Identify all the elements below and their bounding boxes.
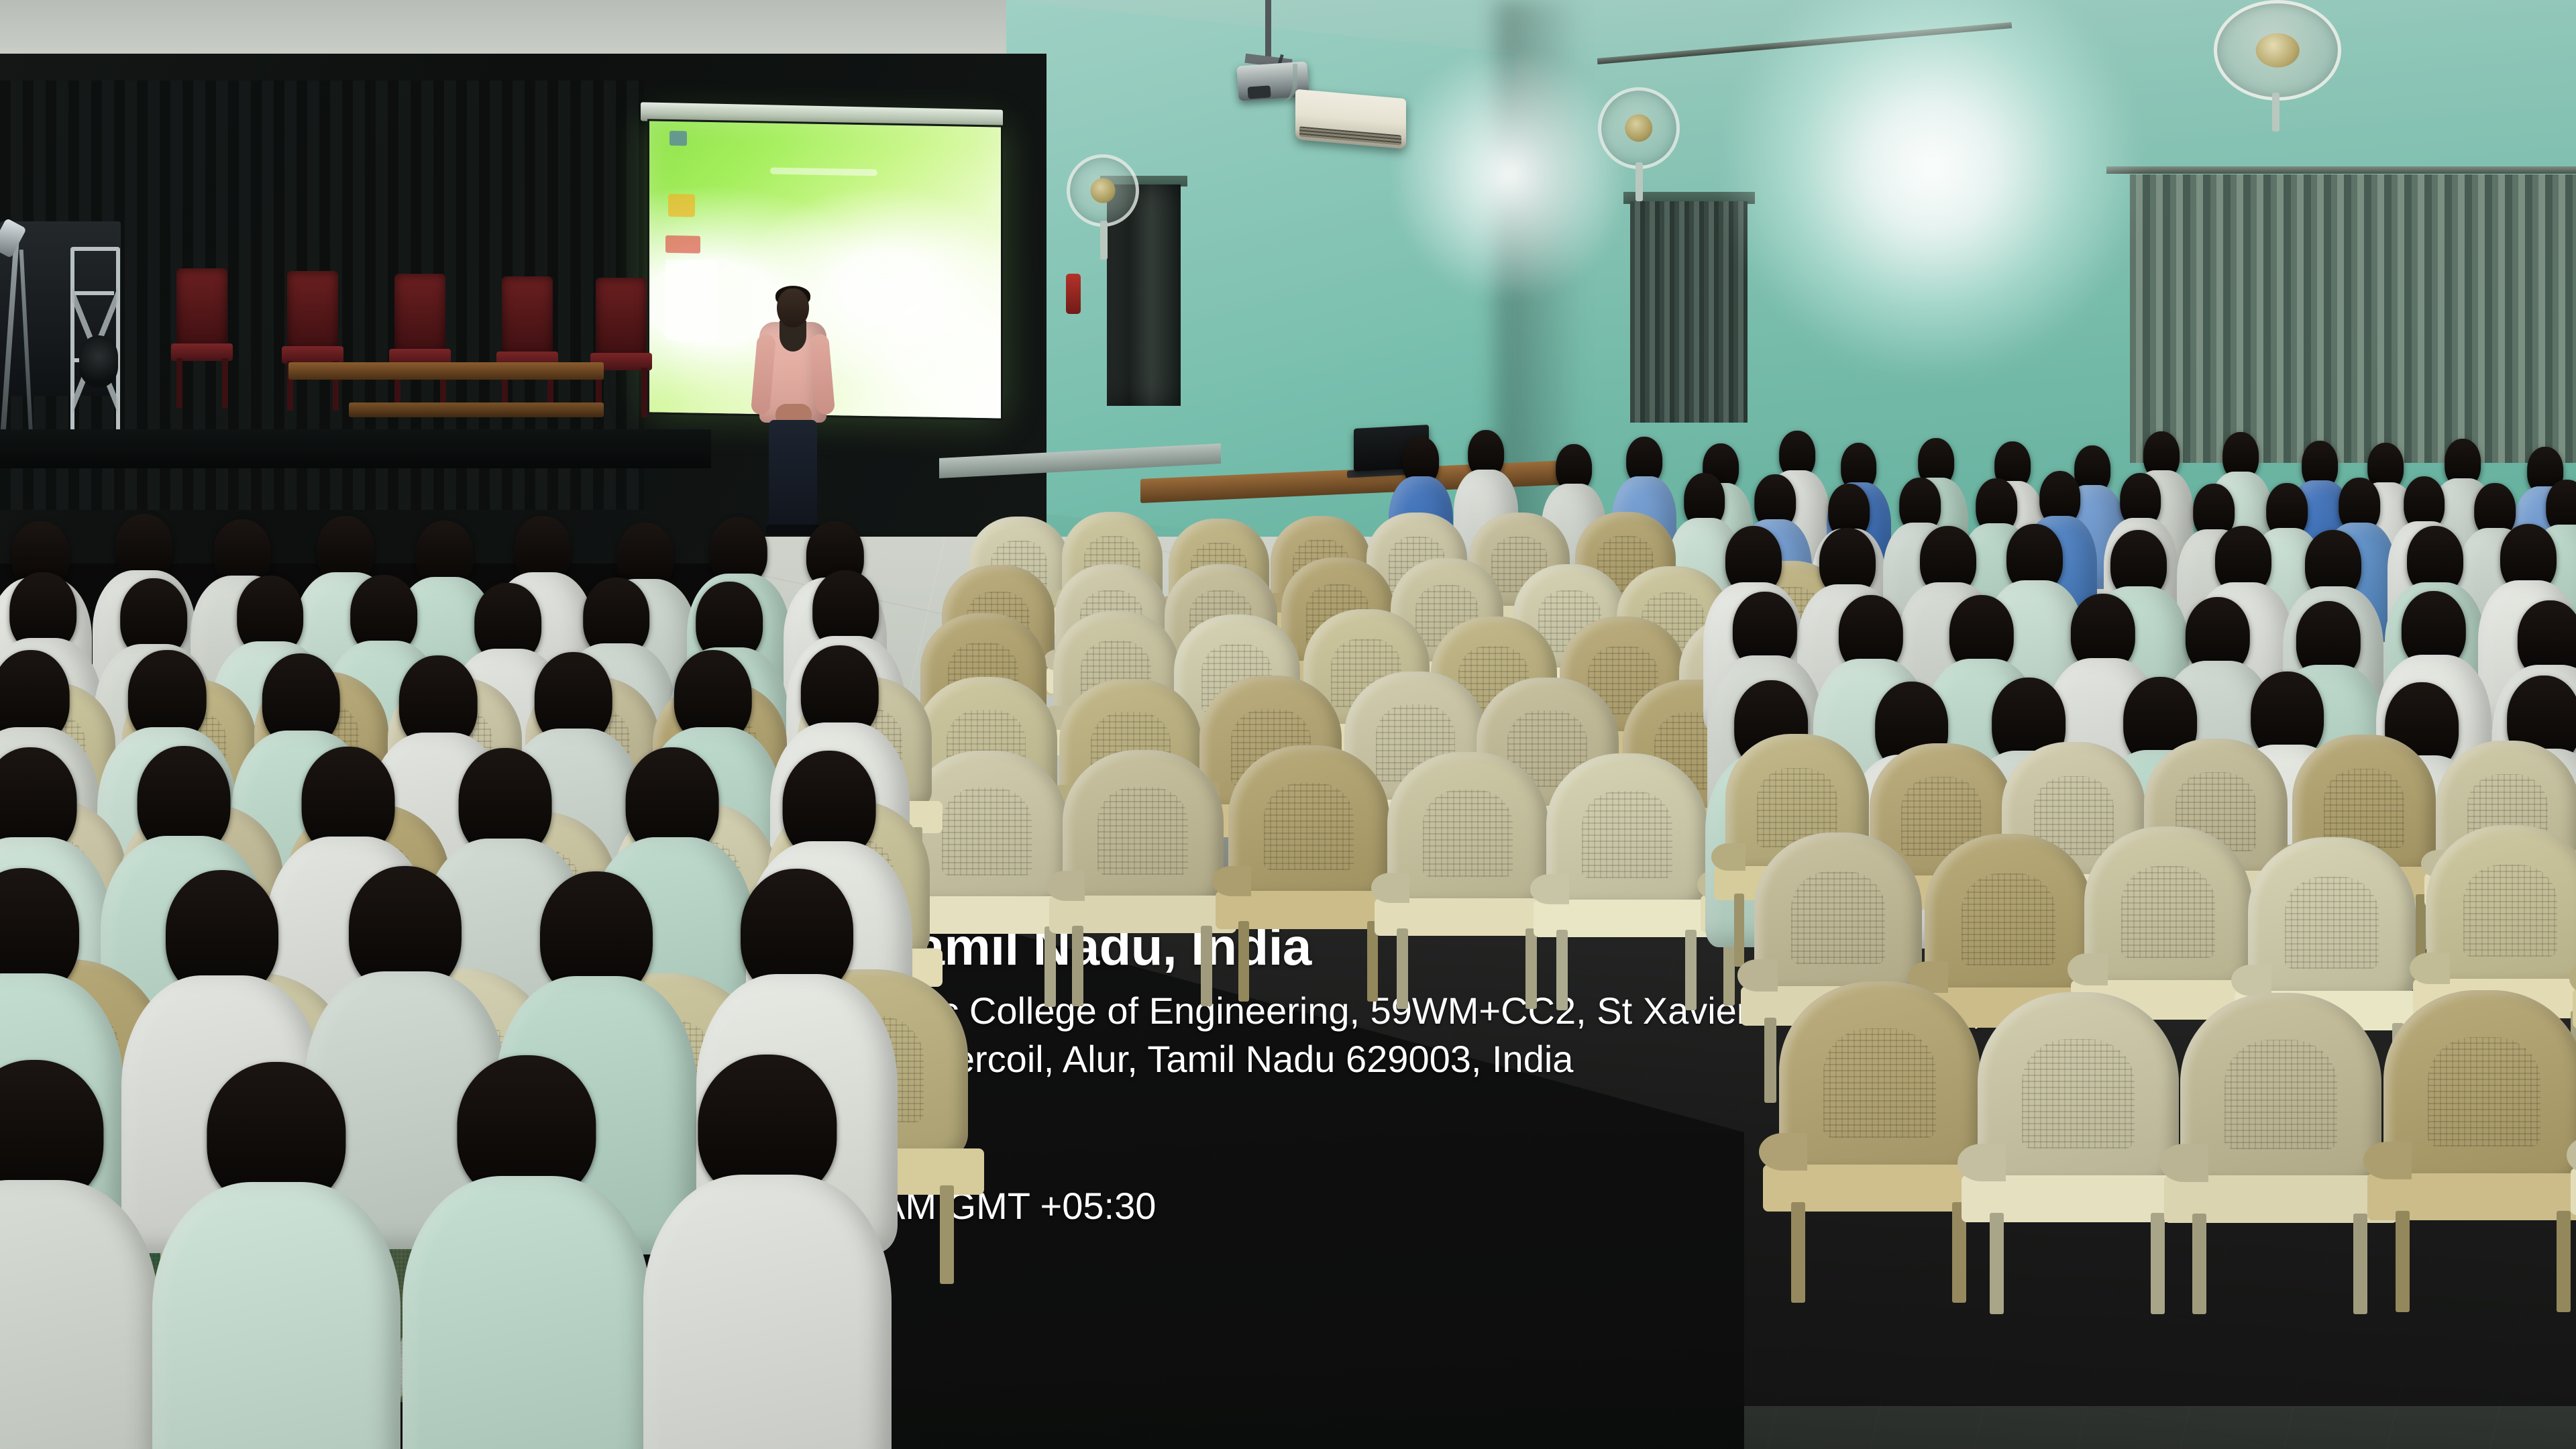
plastic-chair (1978, 992, 2179, 1307)
slide-element-d (665, 260, 718, 341)
plastic-chair (1779, 981, 1980, 1297)
plastic-chair (1063, 750, 1224, 1002)
audience-member (643, 1055, 892, 1449)
dais-table (288, 362, 604, 380)
slide-element-b (668, 194, 695, 217)
stage-chair (590, 278, 652, 419)
window-curtain-right (2130, 174, 2576, 463)
slide-element-a (669, 131, 687, 146)
stage-chair (496, 276, 558, 417)
ceiling-light-glare (1395, 54, 1623, 295)
plastic-chair (2383, 990, 2576, 1305)
gps-map-camera-photo: GPS Map Camera Google Nagercoil, Tamil N… (0, 0, 2576, 1449)
wall-fan-3-icon (2214, 0, 2341, 101)
wall-fan-1-icon (1067, 154, 1139, 227)
audience-member (152, 1062, 400, 1449)
presenter-figure (753, 288, 833, 530)
plastic-chair (1546, 753, 1707, 1005)
window-light-glare (1724, 0, 2140, 376)
slide-element-e (770, 168, 877, 176)
stage-edge (0, 429, 711, 468)
audience-member (0, 1060, 158, 1449)
plastic-chair (1387, 752, 1548, 1004)
stage-speaker (79, 335, 118, 388)
audience-member (402, 1055, 651, 1449)
wall-fan-2-icon (1598, 87, 1680, 169)
fire-extinguisher (1066, 274, 1081, 314)
stage-chair (171, 268, 233, 409)
plastic-chair (1228, 745, 1389, 997)
slide-element-c (665, 235, 700, 254)
dais-table-2 (349, 402, 604, 417)
curtain-rod (2106, 166, 2576, 174)
split-ac-unit (1295, 89, 1406, 149)
plastic-chair (2180, 993, 2381, 1308)
projector-mount-rod (1265, 0, 1271, 64)
stage-chair (282, 271, 343, 412)
stage-chair (389, 274, 451, 415)
